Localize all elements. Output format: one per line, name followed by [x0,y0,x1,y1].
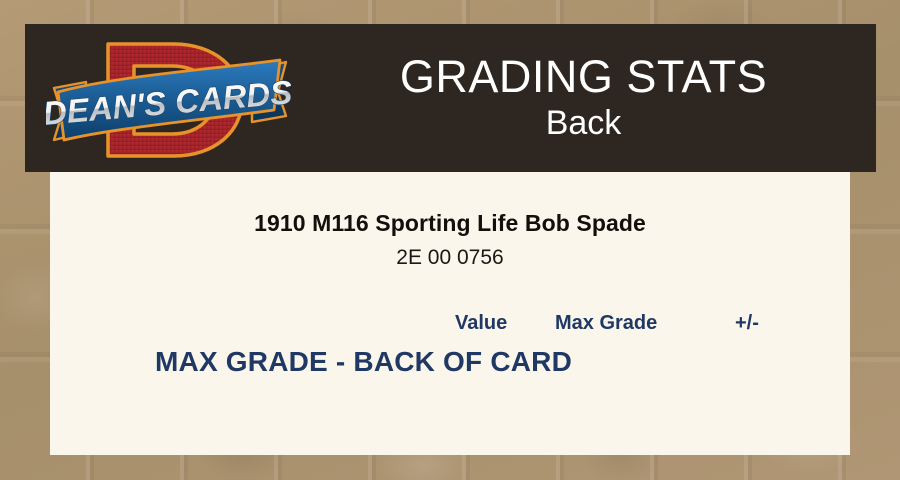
table-row: MAX GRADE - BACK OF CARD [50,346,850,388]
header-bar: DEAN'S CARDS GRADING STATS Back [25,24,876,172]
grading-stats-page: DEAN'S CARDS GRADING STATS Back 1910 M11… [0,0,900,480]
grading-stats-table: Value Max Grade +/- MAX GRADE - BACK OF … [50,312,850,388]
page-title: GRADING STATS [400,53,767,100]
column-header-plus-minus: +/- [735,312,759,335]
deans-cards-logo[interactable]: DEAN'S CARDS [46,30,291,170]
column-header-max-grade: Max Grade [555,312,657,335]
header-title-group: GRADING STATS Back [291,24,876,172]
deans-cards-logo-graphic: DEAN'S CARDS [46,30,291,170]
card-title: 1910 M116 Sporting Life Bob Spade [50,210,850,237]
column-header-value: Value [455,312,507,335]
card-id: 2E 00 0756 [50,246,850,270]
row-label-max-grade-back-of-card: MAX GRADE - BACK OF CARD [155,346,572,378]
content-panel: 1910 M116 Sporting Life Bob Spade 2E 00 … [50,172,850,455]
table-header-row: Value Max Grade +/- [50,312,850,346]
page-subtitle: Back [546,104,622,143]
